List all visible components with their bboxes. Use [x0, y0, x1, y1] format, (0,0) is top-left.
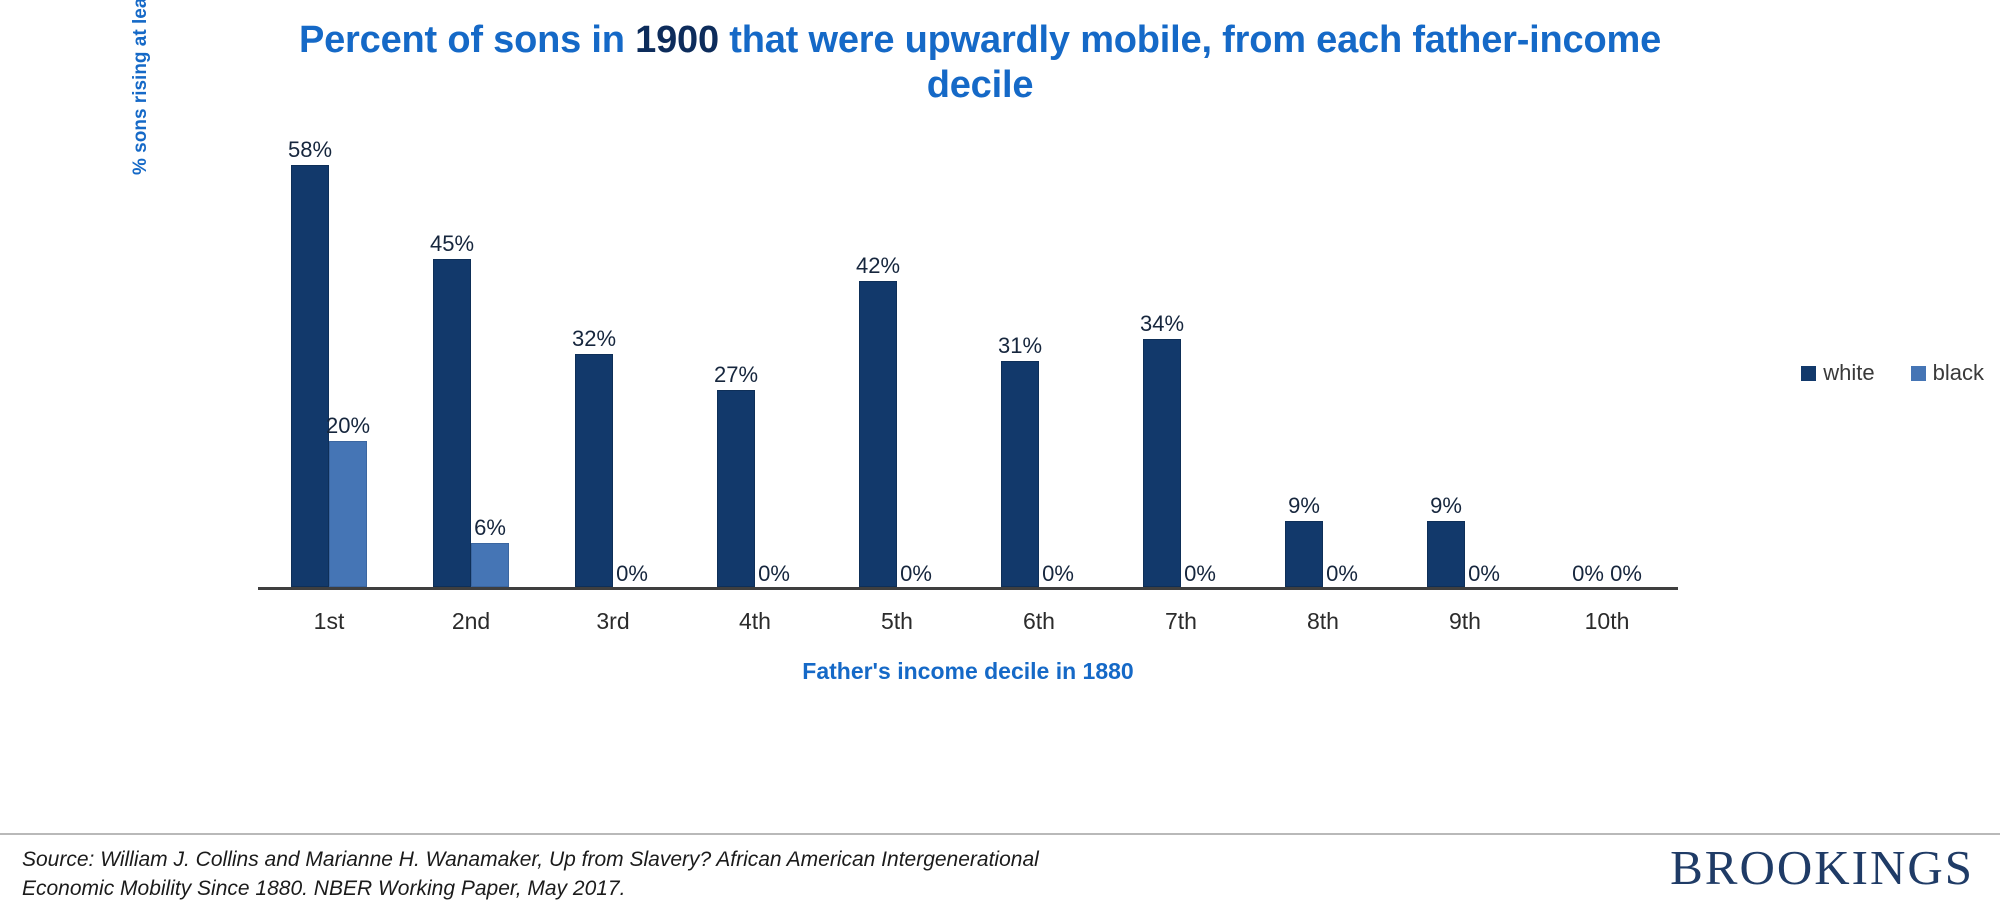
- bar-group: 0%0%: [1536, 150, 1678, 587]
- bar-group: 42%0%: [826, 150, 968, 587]
- bar-white-3rd[interactable]: 32%: [575, 354, 613, 587]
- x-tick-3rd: 3rd: [542, 608, 684, 635]
- bar-value-label: 27%: [714, 364, 758, 386]
- bar-slot: 9%: [1285, 150, 1323, 587]
- bar-white-5th[interactable]: 42%: [859, 281, 897, 587]
- bar-white-2nd[interactable]: 45%: [433, 259, 471, 587]
- bar-white-9th[interactable]: 9%: [1427, 521, 1465, 587]
- bar-group: 45%6%: [400, 150, 542, 587]
- bar-value-label: 32%: [572, 328, 616, 350]
- legend: whiteblack: [1801, 360, 1984, 386]
- legend-label: white: [1823, 360, 1874, 386]
- bar-value-label: 6%: [474, 517, 506, 539]
- bar-group: 27%0%: [684, 150, 826, 587]
- bar-group: 58%20%: [258, 150, 400, 587]
- bar-slot: 42%: [859, 150, 897, 587]
- bar-value-label: 0%: [1042, 563, 1074, 585]
- x-tick-10th: 10th: [1536, 608, 1678, 635]
- title-highlight-year: 1900: [635, 19, 719, 61]
- bar-slot: 34%: [1143, 150, 1181, 587]
- bar-slot: 0%: [1607, 150, 1645, 587]
- x-tick-2nd: 2nd: [400, 608, 542, 635]
- legend-label: black: [1933, 360, 1984, 386]
- x-tick-8th: 8th: [1252, 608, 1394, 635]
- bar-value-label: 0%: [900, 563, 932, 585]
- bar-slot: 0%: [1039, 150, 1077, 587]
- bar-group: 31%0%: [968, 150, 1110, 587]
- bar-white-7th[interactable]: 34%: [1143, 339, 1181, 587]
- x-tick-6th: 6th: [968, 608, 1110, 635]
- legend-item-white[interactable]: white: [1801, 360, 1874, 386]
- x-axis-tick-labels: 1st2nd3rd4th5th6th7th8th9th10th: [258, 608, 1678, 635]
- bar-value-label: 0%: [758, 563, 790, 585]
- bar-slot: 32%: [575, 150, 613, 587]
- bar-slot: 20%: [329, 150, 367, 587]
- bar-value-label: 34%: [1140, 313, 1184, 335]
- legend-swatch-icon: [1801, 366, 1816, 381]
- bar-slot: 0%: [1323, 150, 1361, 587]
- bar-slot: 0%: [897, 150, 935, 587]
- bar-value-label: 0%: [1610, 563, 1642, 585]
- bar-slot: 6%: [471, 150, 509, 587]
- bar-black-2nd[interactable]: 6%: [471, 543, 509, 587]
- bar-slot: 45%: [433, 150, 471, 587]
- bar-group: 32%0%: [542, 150, 684, 587]
- x-axis-line: [258, 587, 1678, 590]
- bar-value-label: 9%: [1430, 495, 1462, 517]
- bar-value-label: 31%: [998, 335, 1042, 357]
- plot-area: % sons rising at least 10 percentiles 58…: [258, 150, 1678, 740]
- bar-value-label: 0%: [1184, 563, 1216, 585]
- x-tick-1st: 1st: [258, 608, 400, 635]
- title-part-before: Percent of sons in: [299, 19, 635, 61]
- bar-white-8th[interactable]: 9%: [1285, 521, 1323, 587]
- source-line-1: Source: William J. Collins and Marianne …: [22, 845, 1422, 874]
- bar-slot: 27%: [717, 150, 755, 587]
- bar-value-label: 58%: [288, 139, 332, 161]
- legend-swatch-icon: [1911, 366, 1926, 381]
- bar-value-label: 0%: [1572, 563, 1604, 585]
- bar-group: 34%0%: [1110, 150, 1252, 587]
- brookings-logo: BROOKINGS: [1670, 843, 1974, 892]
- bar-slot: 0%: [755, 150, 793, 587]
- legend-item-black[interactable]: black: [1911, 360, 1984, 386]
- bar-value-label: 42%: [856, 255, 900, 277]
- x-tick-9th: 9th: [1394, 608, 1536, 635]
- bar-slot: 0%: [1465, 150, 1503, 587]
- bar-white-1st[interactable]: 58%: [291, 165, 329, 587]
- x-tick-5th: 5th: [826, 608, 968, 635]
- bar-slot: 58%: [291, 150, 329, 587]
- bar-group: 9%0%: [1252, 150, 1394, 587]
- bar-value-label: 20%: [326, 415, 370, 437]
- x-tick-7th: 7th: [1110, 608, 1252, 635]
- x-axis-title: Father's income decile in 1880: [258, 658, 1678, 685]
- y-axis-title: % sons rising at least 10 percentiles: [130, 0, 152, 175]
- bar-slot: 9%: [1427, 150, 1465, 587]
- source-line-2: Economic Mobility Since 1880. NBER Worki…: [22, 874, 1422, 903]
- x-tick-4th: 4th: [684, 608, 826, 635]
- bar-group: 9%0%: [1394, 150, 1536, 587]
- page-title: Percent of sons in 1900 that were upward…: [250, 18, 1710, 108]
- chart-page: { "title": { "before": "Percent of sons …: [0, 0, 2000, 910]
- bar-slot: 0%: [1181, 150, 1219, 587]
- bar-slot: 31%: [1001, 150, 1039, 587]
- bar-value-label: 0%: [1468, 563, 1500, 585]
- bar-value-label: 0%: [1326, 563, 1358, 585]
- bar-white-6th[interactable]: 31%: [1001, 361, 1039, 587]
- footer-divider: [0, 833, 2000, 835]
- title-part-after: that were upwardly mobile, from each fat…: [719, 19, 1661, 106]
- bar-slot: 0%: [613, 150, 651, 587]
- bar-groups: 58%20%45%6%32%0%27%0%42%0%31%0%34%0%9%0%…: [258, 150, 1678, 587]
- bar-black-1st[interactable]: 20%: [329, 441, 367, 587]
- bar-value-label: 45%: [430, 233, 474, 255]
- source-note: Source: William J. Collins and Marianne …: [22, 845, 1422, 904]
- bar-white-4th[interactable]: 27%: [717, 390, 755, 587]
- bar-value-label: 0%: [616, 563, 648, 585]
- bar-slot: 0%: [1569, 150, 1607, 587]
- bar-value-label: 9%: [1288, 495, 1320, 517]
